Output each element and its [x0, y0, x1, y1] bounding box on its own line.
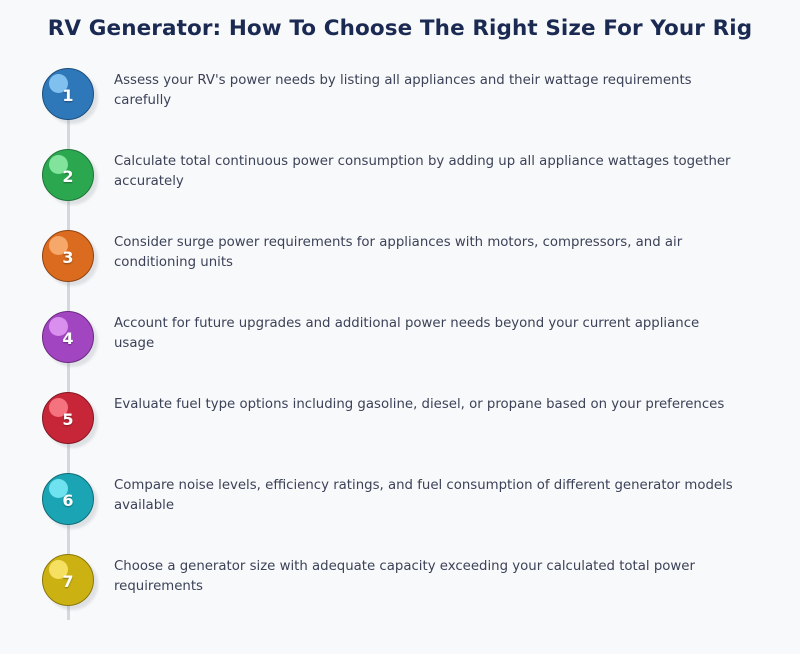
- step-description: Choose a generator size with adequate ca…: [114, 557, 734, 597]
- step-number: 4: [42, 311, 94, 363]
- step-description: Consider surge power requirements for ap…: [114, 233, 734, 273]
- step-number: 3: [42, 230, 94, 282]
- list-item: 2 Calculate total continuous power consu…: [0, 149, 800, 230]
- step-number: 2: [42, 149, 94, 201]
- step-badge-6: 6: [42, 473, 94, 525]
- step-description: Calculate total continuous power consump…: [114, 152, 734, 192]
- step-description: Assess your RV's power needs by listing …: [114, 71, 734, 111]
- list-item: 5 Evaluate fuel type options including g…: [0, 392, 800, 473]
- step-badge-1: 1: [42, 68, 94, 120]
- step-description: Evaluate fuel type options including gas…: [114, 395, 734, 415]
- step-badge-3: 3: [42, 230, 94, 282]
- step-badge-5: 5: [42, 392, 94, 444]
- list-item: 7 Choose a generator size with adequate …: [0, 554, 800, 635]
- step-number: 7: [42, 554, 94, 606]
- step-number: 6: [42, 473, 94, 525]
- steps-list: 1 Assess your RV's power needs by listin…: [0, 68, 800, 635]
- step-badge-7: 7: [42, 554, 94, 606]
- list-item: 1 Assess your RV's power needs by listin…: [0, 68, 800, 149]
- step-badge-2: 2: [42, 149, 94, 201]
- step-description: Account for future upgrades and addition…: [114, 314, 734, 354]
- list-item: 6 Compare noise levels, efficiency ratin…: [0, 473, 800, 554]
- list-item: 3 Consider surge power requirements for …: [0, 230, 800, 311]
- infographic-root: RV Generator: How To Choose The Right Si…: [0, 0, 800, 654]
- list-item: 4 Account for future upgrades and additi…: [0, 311, 800, 392]
- page-title: RV Generator: How To Choose The Right Si…: [0, 16, 800, 41]
- step-description: Compare noise levels, efficiency ratings…: [114, 476, 734, 516]
- step-badge-4: 4: [42, 311, 94, 363]
- step-number: 1: [42, 68, 94, 120]
- step-number: 5: [42, 392, 94, 444]
